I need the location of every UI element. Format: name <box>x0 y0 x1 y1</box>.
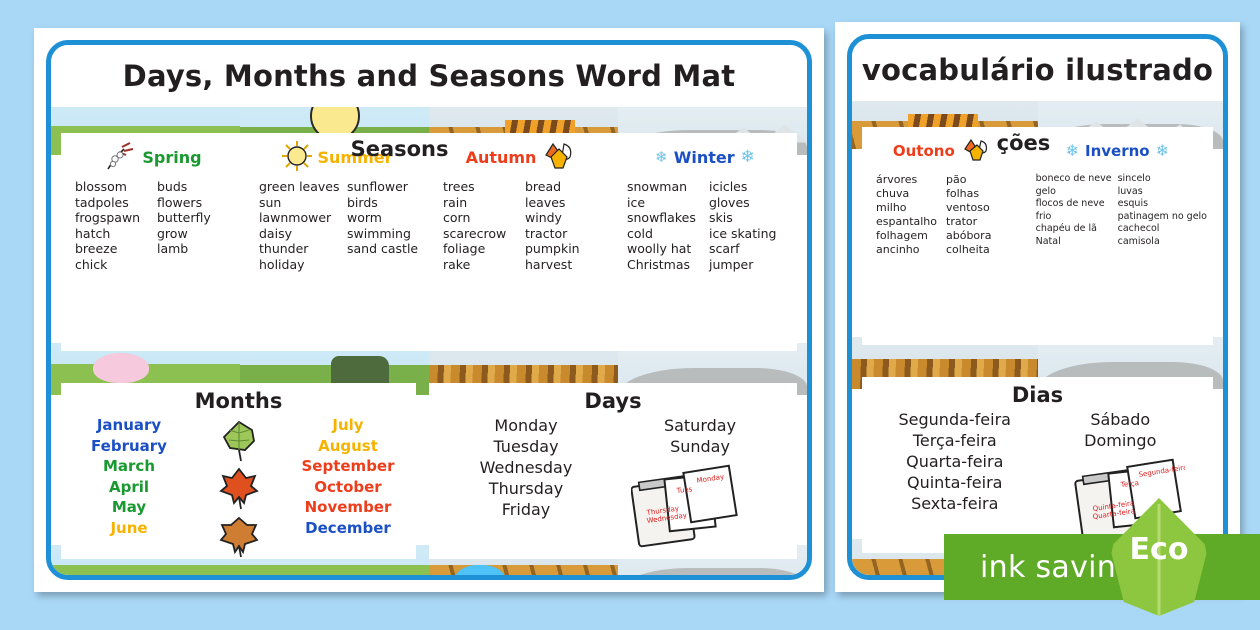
day: Monday <box>439 415 613 436</box>
month: March <box>75 456 183 477</box>
pt-seasons-panel: ções Outono <box>862 127 1213 345</box>
months-col-left: January February March April May June <box>75 415 183 538</box>
notepad-with-day-notes-icon: Thursday Wednesday Tues Monday <box>631 461 741 547</box>
season-spring[interactable]: Spring blossom tadpoles frogspawn hatch … <box>61 135 245 351</box>
word: pumpkin <box>525 241 601 257</box>
word: camisola <box>1118 236 1207 249</box>
word: harvest <box>525 257 601 273</box>
word: icicles <box>709 179 785 195</box>
month: January <box>75 415 183 436</box>
snowflake-icon: ❄ <box>741 149 755 166</box>
word: gelo <box>1036 186 1112 199</box>
word: sincelo <box>1118 173 1207 186</box>
red-leaf-icon <box>216 467 262 515</box>
word: cachecol <box>1118 223 1207 236</box>
pt-days-col-weekdays: Segunda-feira Terça-feira Quarta-feira Q… <box>872 409 1038 514</box>
ink-saving-eco-badge: ink saving Eco <box>944 534 1260 600</box>
word: leaves <box>525 195 601 211</box>
word: luvas <box>1118 186 1207 199</box>
word: folhagem <box>876 229 940 243</box>
word: flocos de neve <box>1036 198 1112 211</box>
months-heading: Months <box>61 383 416 415</box>
month: October <box>294 477 402 498</box>
pt-outono-col2: pão folhas ventoso trator abóbora colhei… <box>946 173 1010 257</box>
word: holiday <box>259 257 341 273</box>
day: Sexta-feira <box>872 493 1038 514</box>
pt-days-heading: Dias <box>862 377 1213 409</box>
word: snowman <box>627 179 703 195</box>
word: frogspawn <box>75 210 151 226</box>
seasons-panel: Seasons <box>61 133 797 351</box>
word: hatch <box>75 226 151 242</box>
day: Quarta-feira <box>872 451 1038 472</box>
word: milho <box>876 201 940 215</box>
day: Tuesday <box>439 436 613 457</box>
word: rake <box>443 257 519 273</box>
sun-icon <box>282 141 312 174</box>
word: sunflower <box>347 179 423 195</box>
word: scarecrow <box>443 226 519 242</box>
word: Christmas <box>627 257 703 273</box>
word: scarf <box>709 241 785 257</box>
word: flowers <box>157 195 233 211</box>
day: Domingo <box>1038 430 1204 451</box>
word: ice skating <box>709 226 785 242</box>
english-title-bar: Days, Months and Seasons Word Mat <box>51 45 807 107</box>
word: espantalho <box>876 215 940 229</box>
month: July <box>294 415 402 436</box>
autumn-col2: bread leaves windy tractor pumpkin harve… <box>525 179 601 272</box>
day: Terça-feira <box>872 430 1038 451</box>
autumn-col1: trees rain corn scarecrow foliage rake <box>443 179 519 272</box>
pt-season-outono[interactable]: Outono <box>862 129 1022 345</box>
spring-col1: blossom tadpoles frogspawn hatch breeze … <box>75 179 151 272</box>
day: Saturday <box>613 415 787 436</box>
green-leaf-icon <box>216 419 262 467</box>
month: September <box>294 456 402 477</box>
autumn-leaves-icon <box>542 141 576 174</box>
eco-label: Eco <box>1130 532 1189 567</box>
month: December <box>294 518 402 539</box>
word: tractor <box>525 226 601 242</box>
pt-season-name-inverno: Inverno <box>1085 142 1150 160</box>
portuguese-mat-border: vocabulário ilustrado <box>847 34 1228 580</box>
word: esquis <box>1118 198 1207 211</box>
month: November <box>294 497 402 518</box>
month: April <box>75 477 183 498</box>
word: ice <box>627 195 703 211</box>
portuguese-word-mat-sheet[interactable]: vocabulário ilustrado <box>835 22 1240 592</box>
month: August <box>294 436 402 457</box>
word: corn <box>443 210 519 226</box>
brown-leaf-icon <box>216 515 262 563</box>
word: gloves <box>709 195 785 211</box>
season-winter[interactable]: ❄ Winter ❄ snowman ice snowflakes cold <box>613 135 797 351</box>
word: boneco de neve <box>1036 173 1112 186</box>
portuguese-page-title: vocabulário ilustrado <box>862 53 1213 87</box>
months-leaf-illustrations <box>204 419 274 563</box>
season-autumn[interactable]: Autumn <box>429 135 613 351</box>
word: folhas <box>946 187 1010 201</box>
snowflake-icon: ❄ <box>655 150 668 165</box>
word: swimming <box>347 226 423 242</box>
month: May <box>75 497 183 518</box>
english-mat-border: Days, Months and Seasons Word Mat <box>46 40 812 580</box>
pt-inverno-col1: boneco de neve gelo flocos de neve frio … <box>1036 173 1112 248</box>
pt-outono-col1: árvores chuva milho espantalho folhagem … <box>876 173 940 257</box>
word: snowflakes <box>627 210 703 226</box>
word: árvores <box>876 173 940 187</box>
word: patinagem no gelo <box>1118 211 1207 224</box>
word: pão <box>946 173 1010 187</box>
day: Sábado <box>1038 409 1204 430</box>
word: blossom <box>75 179 151 195</box>
word: daisy <box>259 226 341 242</box>
word: woolly hat <box>627 241 703 257</box>
english-word-mat-sheet[interactable]: Days, Months and Seasons Word Mat <box>34 28 824 592</box>
summer-col1: green leaves sun lawnmower daisy thunder… <box>259 179 341 272</box>
word: chick <box>75 257 151 273</box>
day: Segunda-feira <box>872 409 1038 430</box>
word: frio <box>1036 211 1112 224</box>
day: Thursday <box>439 478 613 499</box>
word: chapéu de lã <box>1036 223 1112 236</box>
day: Wednesday <box>439 457 613 478</box>
season-name-winter: Winter <box>674 148 735 167</box>
word: butterfly <box>157 210 233 226</box>
word: grow <box>157 226 233 242</box>
word: rain <box>443 195 519 211</box>
word: sand castle <box>347 241 423 257</box>
word: tadpoles <box>75 195 151 211</box>
word: buds <box>157 179 233 195</box>
summer-col2: sunflower birds worm swimming sand castl… <box>347 179 423 272</box>
winter-col2: icicles gloves skis ice skating scarf ju… <box>709 179 785 272</box>
word: green leaves <box>259 179 341 195</box>
season-summer[interactable]: Summer green leaves sun lawnmower daisy … <box>245 135 429 351</box>
months-panel: Months January February March April May … <box>61 383 416 559</box>
winter-col1: snowman ice snowflakes cold woolly hat C… <box>627 179 703 272</box>
pt-season-inverno[interactable]: ❄ Inverno ❄ boneco de neve gelo flocos d… <box>1022 129 1213 345</box>
word: windy <box>525 210 601 226</box>
word: jumper <box>709 257 785 273</box>
page-title: Days, Months and Seasons Word Mat <box>123 59 736 93</box>
season-name-autumn: Autumn <box>466 148 537 167</box>
month: June <box>75 518 183 539</box>
pt-season-name-outono: Outono <box>893 142 955 160</box>
word: breeze <box>75 241 151 257</box>
month: February <box>75 436 183 457</box>
blossom-branch-icon <box>104 141 136 174</box>
word: birds <box>347 195 423 211</box>
season-name-spring: Spring <box>142 148 201 167</box>
days-heading: Days <box>429 383 797 415</box>
word: worm <box>347 210 423 226</box>
word: ancinho <box>876 243 940 257</box>
screenshot-stage: vocabulário ilustrado <box>0 0 1260 630</box>
word: sun <box>259 195 341 211</box>
word: thunder <box>259 241 341 257</box>
word: Natal <box>1036 236 1112 249</box>
day: Quinta-feira <box>872 472 1038 493</box>
day: Friday <box>439 499 613 520</box>
word: colheita <box>946 243 1010 257</box>
word: chuva <box>876 187 940 201</box>
months-col-right: July August September October November D… <box>294 415 402 538</box>
days-col-weekdays: Monday Tuesday Wednesday Thursday Friday <box>439 415 613 520</box>
snowflake-icon: ❄ <box>1066 143 1079 159</box>
word: ventoso <box>946 201 1010 215</box>
word: skis <box>709 210 785 226</box>
word: cold <box>627 226 703 242</box>
spring-col2: buds flowers butterfly grow lamb <box>157 179 233 272</box>
word: lamb <box>157 241 233 257</box>
word: trees <box>443 179 519 195</box>
snowflake-icon: ❄ <box>1156 143 1169 159</box>
word: foliage <box>443 241 519 257</box>
portuguese-title-bar: vocabulário ilustrado <box>852 39 1223 101</box>
seasons-heading: Seasons <box>351 137 449 161</box>
autumn-leaves-icon <box>961 137 991 166</box>
word: abóbora <box>946 229 1010 243</box>
word: lawnmower <box>259 210 341 226</box>
day: Sunday <box>613 436 787 457</box>
word: trator <box>946 215 1010 229</box>
days-panel: Days Monday Tuesday Wednesday Thursday F… <box>429 383 797 559</box>
pt-seasons-heading: ções <box>997 131 1051 155</box>
word: bread <box>525 179 601 195</box>
pt-inverno-col2: sincelo luvas esquis patinagem no gelo c… <box>1118 173 1207 248</box>
